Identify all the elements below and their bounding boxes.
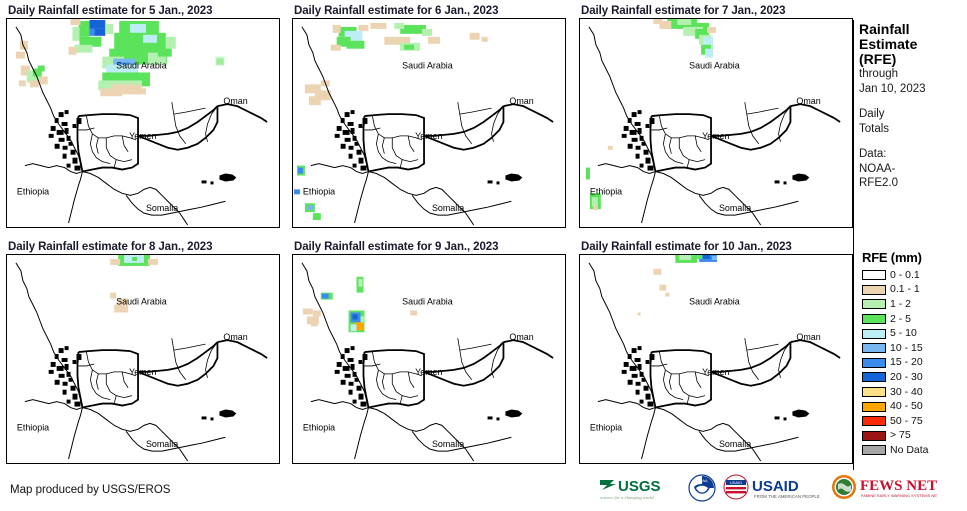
label-ethiopia: Ethiopia bbox=[590, 186, 622, 196]
label-saudi-arabia: Saudi Arabia bbox=[116, 297, 167, 307]
info-title-line2: Estimate bbox=[859, 37, 965, 52]
legend-item[interactable]: 40 - 50 bbox=[862, 399, 967, 414]
label-saudi-arabia: Saudi Arabia bbox=[116, 61, 167, 71]
legend-swatch bbox=[862, 402, 886, 412]
info-totals-line2: Totals bbox=[859, 122, 965, 137]
legend-swatch bbox=[862, 314, 886, 324]
vertical-divider bbox=[853, 20, 854, 470]
legend-item[interactable]: > 75 bbox=[862, 429, 967, 444]
map-frame[interactable]: Saudi Arabia Oman Yemen Ethiopia Somalia bbox=[6, 18, 280, 228]
label-somalia: Somalia bbox=[719, 203, 751, 213]
map-credit: Map produced by USGS/EROS bbox=[10, 484, 170, 496]
info-title-line3: (RFE) bbox=[859, 52, 965, 67]
legend-label: 30 - 40 bbox=[890, 387, 923, 398]
terrain-speckle bbox=[49, 346, 82, 406]
legend-item[interactable]: 0.1 - 1 bbox=[862, 283, 967, 298]
map-frame[interactable]: Saudi Arabia Oman Yemen Ethiopia Somalia bbox=[579, 18, 853, 228]
legend-item[interactable]: 10 - 15 bbox=[862, 341, 967, 356]
svg-text:science for a changing world: science for a changing world bbox=[600, 495, 654, 500]
map-graphic: Saudi Arabia Oman Yemen Ethiopia Somalia bbox=[580, 19, 852, 227]
terrain-speckle bbox=[622, 346, 655, 406]
svg-text:FAMINE EARLY WARNING SYSTEMS N: FAMINE EARLY WARNING SYSTEMS NETWORK bbox=[861, 493, 938, 498]
map-frame[interactable]: Saudi Arabia Oman Yemen Ethiopia Somalia bbox=[292, 18, 566, 228]
panel-title: Daily Rainfall estimate for 10 Jan., 202… bbox=[581, 240, 853, 254]
map-graphic: Saudi Arabia Oman Yemen Ethiopia Somalia bbox=[293, 19, 565, 227]
map-panel-jan8: Daily Rainfall estimate for 8 Jan., 2023 bbox=[6, 240, 280, 464]
label-somalia: Somalia bbox=[432, 203, 464, 213]
map-frame[interactable]: Saudi Arabia Oman Yemen Ethiopia Somalia bbox=[579, 254, 853, 464]
svg-text:NOAA: NOAA bbox=[696, 478, 708, 483]
label-ethiopia: Ethiopia bbox=[303, 186, 335, 196]
agency-logos: USGS science for a changing world NOAA U… bbox=[598, 474, 938, 502]
legend-label: 40 - 50 bbox=[890, 401, 923, 412]
legend-item[interactable]: 2 - 5 bbox=[862, 312, 967, 327]
map-graphic: Saudi Arabia Oman Yemen Ethiopia Somalia bbox=[580, 255, 852, 463]
label-ethiopia: Ethiopia bbox=[17, 186, 49, 196]
legend-label: 15 - 20 bbox=[890, 357, 923, 368]
svg-text:USAID: USAID bbox=[730, 480, 742, 485]
label-yemen: Yemen bbox=[702, 131, 729, 141]
map-frame[interactable]: Saudi Arabia Oman Yemen Ethiopia Somalia bbox=[6, 254, 280, 464]
map-graphic: Saudi Arabia Oman Yemen Ethiopia Somalia bbox=[7, 255, 279, 463]
map-panel-jan10: Daily Rainfall estimate for 10 Jan., 202… bbox=[579, 240, 853, 464]
label-saudi-arabia: Saudi Arabia bbox=[689, 61, 740, 71]
map-graphic: Saudi Arabia Oman Yemen Ethiopia Somalia bbox=[293, 255, 565, 463]
island-features bbox=[488, 410, 523, 421]
info-title-line1: Rainfall bbox=[859, 22, 965, 37]
terrain-speckle bbox=[622, 110, 655, 170]
label-oman: Oman bbox=[796, 96, 820, 106]
map-panel-jan6: Daily Rainfall estimate for 6 Jan., 2023 bbox=[292, 4, 566, 228]
rfe-map-page: Daily Rainfall estimate for 5 Jan., 2023 bbox=[0, 0, 967, 511]
svg-text:USAID: USAID bbox=[752, 478, 799, 495]
info-data-line2: RFE2.0 bbox=[859, 176, 965, 191]
map-panel-jan9: Daily Rainfall estimate for 9 Jan., 2023 bbox=[292, 240, 566, 464]
legend-swatch bbox=[862, 358, 886, 368]
label-oman: Oman bbox=[509, 332, 533, 342]
label-oman: Oman bbox=[223, 332, 247, 342]
label-somalia: Somalia bbox=[432, 439, 464, 449]
legend-item[interactable]: 30 - 40 bbox=[862, 385, 967, 400]
legend-swatch bbox=[862, 285, 886, 295]
usgs-logo[interactable]: USGS science for a changing world bbox=[598, 474, 682, 502]
label-oman: Oman bbox=[796, 332, 820, 342]
legend-item[interactable]: 50 - 75 bbox=[862, 414, 967, 429]
legend-swatch bbox=[862, 299, 886, 309]
label-yemen: Yemen bbox=[415, 367, 442, 377]
label-ethiopia: Ethiopia bbox=[590, 422, 622, 432]
label-oman: Oman bbox=[509, 96, 533, 106]
legend-rows: 0 - 0.10.1 - 11 - 22 - 55 - 1010 - 1515 … bbox=[862, 268, 967, 458]
rainfall-raster bbox=[16, 19, 224, 96]
terrain-speckle bbox=[335, 346, 368, 406]
label-saudi-arabia: Saudi Arabia bbox=[689, 297, 740, 307]
legend-label: 50 - 75 bbox=[890, 416, 923, 427]
spacer bbox=[859, 136, 965, 147]
rfe-legend: RFE (mm) 0 - 0.10.1 - 11 - 22 - 55 - 101… bbox=[862, 250, 967, 458]
legend-title: RFE (mm) bbox=[862, 250, 967, 265]
label-ethiopia: Ethiopia bbox=[303, 422, 335, 432]
map-panel-jan5: Daily Rainfall estimate for 5 Jan., 2023 bbox=[6, 4, 280, 228]
label-yemen: Yemen bbox=[415, 131, 442, 141]
legend-item[interactable]: 5 - 10 bbox=[862, 326, 967, 341]
fewsnet-logo[interactable]: FEWS NET FAMINE EARLY WARNING SYSTEMS NE… bbox=[830, 474, 938, 502]
label-saudi-arabia: Saudi Arabia bbox=[402, 61, 453, 71]
svg-text:USGS: USGS bbox=[618, 478, 661, 495]
legend-item[interactable]: 15 - 20 bbox=[862, 356, 967, 371]
svg-text:FEWS NET: FEWS NET bbox=[860, 478, 937, 494]
label-yemen: Yemen bbox=[702, 367, 729, 377]
spacer bbox=[859, 96, 965, 107]
legend-swatch bbox=[862, 343, 886, 353]
legend-swatch bbox=[862, 431, 886, 441]
panel-title: Daily Rainfall estimate for 7 Jan., 2023 bbox=[581, 4, 853, 18]
info-through-label: through bbox=[859, 67, 965, 82]
legend-item[interactable]: No Data bbox=[862, 443, 967, 458]
legend-label: 10 - 15 bbox=[890, 343, 923, 354]
label-somalia: Somalia bbox=[719, 439, 751, 449]
usaid-logo[interactable]: USAID USAID FROM THE AMERICAN PEOPLE bbox=[722, 474, 824, 502]
legend-swatch bbox=[862, 445, 886, 455]
legend-label: 1 - 2 bbox=[890, 299, 911, 310]
panel-title: Daily Rainfall estimate for 8 Jan., 2023 bbox=[8, 240, 280, 254]
label-yemen: Yemen bbox=[129, 131, 156, 141]
legend-label: No Data bbox=[890, 445, 929, 456]
info-data-label: Data: bbox=[859, 147, 965, 162]
legend-label: > 75 bbox=[890, 430, 911, 441]
legend-swatch bbox=[862, 387, 886, 397]
island-features bbox=[775, 410, 810, 421]
island-features bbox=[202, 410, 237, 421]
legend-item[interactable]: 1 - 2 bbox=[862, 297, 967, 312]
legend-label: 0 - 0.1 bbox=[890, 270, 920, 281]
map-graphic: Saudi Arabia Oman Yemen Ethiopia Somalia bbox=[7, 19, 279, 227]
label-somalia: Somalia bbox=[146, 439, 178, 449]
label-somalia: Somalia bbox=[146, 203, 178, 213]
terrain-speckle bbox=[49, 110, 82, 170]
legend-label: 2 - 5 bbox=[890, 314, 911, 325]
legend-item[interactable]: 20 - 30 bbox=[862, 370, 967, 385]
legend-swatch bbox=[862, 270, 886, 280]
info-data-line1: NOAA- bbox=[859, 162, 965, 177]
noaa-logo[interactable]: NOAA bbox=[688, 474, 716, 502]
svg-text:FROM THE AMERICAN PEOPLE: FROM THE AMERICAN PEOPLE bbox=[754, 494, 820, 499]
legend-swatch bbox=[862, 372, 886, 382]
rfe-info-block: Rainfall Estimate (RFE) through Jan 10, … bbox=[859, 22, 965, 191]
legend-swatch bbox=[862, 329, 886, 339]
rainfall-raster bbox=[303, 277, 417, 332]
panel-title: Daily Rainfall estimate for 5 Jan., 2023 bbox=[8, 4, 280, 18]
legend-swatch bbox=[862, 416, 886, 426]
island-features bbox=[202, 174, 237, 185]
label-saudi-arabia: Saudi Arabia bbox=[402, 297, 453, 307]
legend-label: 20 - 30 bbox=[890, 372, 923, 383]
island-features bbox=[775, 174, 810, 185]
legend-item[interactable]: 0 - 0.1 bbox=[862, 268, 967, 283]
island-features bbox=[488, 174, 523, 185]
panel-title: Daily Rainfall estimate for 6 Jan., 2023 bbox=[294, 4, 566, 18]
label-oman: Oman bbox=[223, 96, 247, 106]
label-ethiopia: Ethiopia bbox=[17, 422, 49, 432]
panel-title: Daily Rainfall estimate for 9 Jan., 2023 bbox=[294, 240, 566, 254]
info-totals-line1: Daily bbox=[859, 107, 965, 122]
map-panel-jan7: Daily Rainfall estimate for 7 Jan., 2023 bbox=[579, 4, 853, 228]
label-yemen: Yemen bbox=[129, 367, 156, 377]
map-frame[interactable]: Saudi Arabia Oman Yemen Ethiopia Somalia bbox=[292, 254, 566, 464]
legend-label: 5 - 10 bbox=[890, 328, 917, 339]
info-through-date: Jan 10, 2023 bbox=[859, 82, 965, 97]
legend-label: 0.1 - 1 bbox=[890, 284, 920, 295]
terrain-speckle bbox=[335, 110, 368, 170]
